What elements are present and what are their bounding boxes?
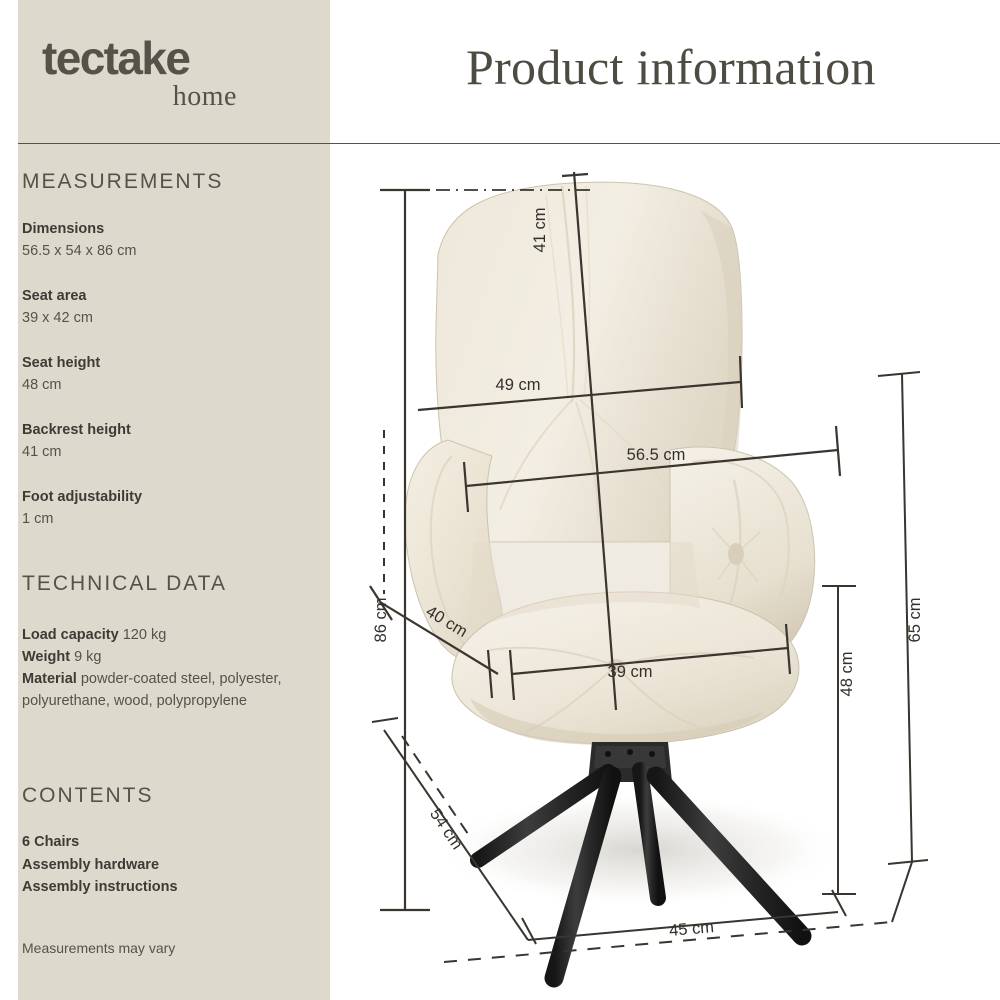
dim-label-overall-height: 86 cm: [372, 598, 390, 643]
brand-name: tectake: [42, 34, 292, 82]
measurement-value: 39 x 42 cm: [22, 307, 300, 329]
section-heading-technical-data: TECHNICAL DATA: [22, 572, 227, 596]
measurement-dimensions: Dimensions 56.5 x 54 x 86 cm: [22, 218, 300, 262]
dim-label-seat-height: 48 cm: [838, 652, 856, 697]
product-diagram: 86 cm 41 cm 49 cm 56.5 cm 40 cm 39 cm 65…: [340, 150, 1000, 1000]
measurement-label: Backrest height: [22, 419, 300, 441]
measurement-backrest-height: Backrest height 41 cm: [22, 419, 300, 463]
section-heading-measurements: MEASUREMENTS: [22, 170, 223, 194]
page-title: Product information: [466, 38, 876, 96]
measurement-seat-area: Seat area 39 x 42 cm: [22, 285, 300, 329]
technical-row-weight: Weight 9 kg: [22, 646, 300, 668]
brand-sub: home: [42, 83, 237, 111]
technical-value: 120 kg: [123, 627, 167, 643]
technical-label: Weight: [22, 649, 70, 665]
technical-row-material: Material powder-coated steel, polyester,…: [22, 668, 300, 712]
measurement-disclaimer: Measurements may vary: [22, 940, 175, 956]
dim-label-base-width: 45 cm: [668, 918, 714, 940]
technical-data-list: Load capacity 120 kg Weight 9 kg Materia…: [22, 624, 300, 712]
measurement-label: Dimensions: [22, 218, 300, 240]
brand-logo: tectake home: [42, 34, 292, 111]
technical-row-load-capacity: Load capacity 120 kg: [22, 624, 300, 646]
contents-item: 6 Chairs: [22, 831, 300, 854]
measurement-value: 56.5 x 54 x 86 cm: [22, 240, 300, 262]
measurement-label: Seat height: [22, 352, 300, 374]
section-heading-contents: CONTENTS: [22, 784, 154, 808]
dim-label-armrest-height: 65 cm: [906, 598, 924, 643]
contents-item: Assembly hardware: [22, 854, 300, 877]
product-information-sheet: tectake home Product information MEASURE…: [0, 0, 1000, 1000]
dim-label-overall-width: 56.5 cm: [627, 446, 686, 464]
measurement-value: 1 cm: [22, 508, 300, 530]
measurement-value: 48 cm: [22, 374, 300, 396]
technical-value: 9 kg: [74, 649, 101, 665]
technical-label: Load capacity: [22, 627, 119, 643]
dim-label-backrest-height: 41 cm: [531, 208, 549, 253]
technical-label: Material: [22, 671, 77, 687]
header-divider: [18, 143, 1000, 144]
measurement-label: Seat area: [22, 285, 300, 307]
measurement-foot-adjustability: Foot adjustability 1 cm: [22, 486, 300, 530]
contents-list: 6 Chairs Assembly hardware Assembly inst…: [22, 831, 300, 899]
measurement-value: 41 cm: [22, 441, 300, 463]
contents-item: Assembly instructions: [22, 876, 300, 899]
measurement-seat-height: Seat height 48 cm: [22, 352, 300, 396]
measurement-label: Foot adjustability: [22, 486, 300, 508]
dim-label-backrest-width: 49 cm: [496, 376, 541, 394]
dim-label-seat-width: 39 cm: [608, 663, 653, 681]
